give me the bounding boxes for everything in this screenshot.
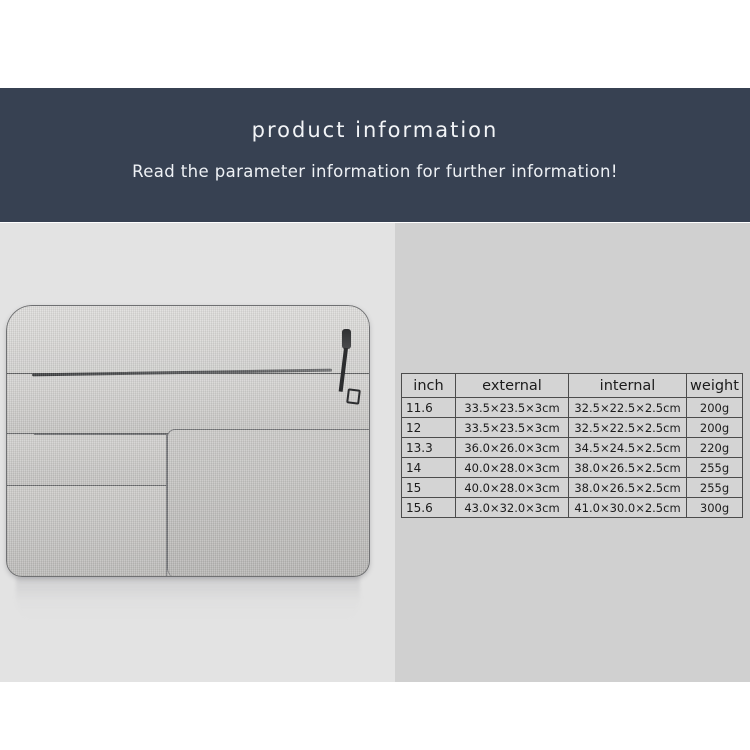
sleeve-top-flap — [6, 305, 370, 374]
column-header-weight: weight — [687, 374, 743, 398]
page-title: product information — [0, 118, 750, 142]
column-header-internal: internal — [569, 374, 687, 398]
product-reflection — [16, 575, 360, 619]
cell-inch: 13.3 — [402, 438, 456, 458]
product-photo — [0, 223, 395, 682]
specification-table: inch external internal weight 11.6 33.5×… — [401, 373, 743, 518]
table-row: 11.6 33.5×23.5×3cm 32.5×22.5×2.5cm 200g — [402, 398, 743, 418]
cell-internal: 34.5×24.5×2.5cm — [569, 438, 687, 458]
page-root: product information Read the parameter i… — [0, 0, 750, 750]
zipper-pull-icon — [340, 329, 354, 407]
laptop-sleeve-image — [6, 305, 370, 577]
specification-table-wrapper: inch external internal weight 11.6 33.5×… — [401, 373, 742, 518]
cell-internal: 32.5×22.5×2.5cm — [569, 398, 687, 418]
column-header-inch: inch — [402, 374, 456, 398]
table-row: 15.6 43.0×32.0×3cm 41.0×30.0×2.5cm 300g — [402, 498, 743, 518]
product-information-banner: product information Read the parameter i… — [0, 88, 750, 222]
table-row: 12 33.5×23.5×3cm 32.5×22.5×2.5cm 200g — [402, 418, 743, 438]
table-row: 13.3 36.0×26.0×3cm 34.5×24.5×2.5cm 220g — [402, 438, 743, 458]
cell-internal: 41.0×30.0×2.5cm — [569, 498, 687, 518]
cell-internal: 38.0×26.5×2.5cm — [569, 478, 687, 498]
cell-external: 40.0×28.0×3cm — [456, 478, 569, 498]
cell-external: 43.0×32.0×3cm — [456, 498, 569, 518]
sleeve-lower-left-pocket-2 — [6, 486, 167, 576]
sleeve-large-front-pocket — [167, 429, 370, 577]
cell-inch: 15.6 — [402, 498, 456, 518]
cell-external: 33.5×23.5×3cm — [456, 398, 569, 418]
zipper-slider — [342, 329, 351, 349]
cell-weight: 300g — [687, 498, 743, 518]
cell-internal: 38.0×26.5×2.5cm — [569, 458, 687, 478]
cell-inch: 12 — [402, 418, 456, 438]
cell-weight: 255g — [687, 458, 743, 478]
cell-weight: 200g — [687, 398, 743, 418]
page-subtitle: Read the parameter information for furth… — [0, 162, 750, 181]
cell-external: 40.0×28.0×3cm — [456, 458, 569, 478]
zipper-tab-end — [346, 388, 361, 404]
cell-weight: 220g — [687, 438, 743, 458]
cell-inch: 11.6 — [402, 398, 456, 418]
cell-weight: 255g — [687, 478, 743, 498]
table-row: 14 40.0×28.0×3cm 38.0×26.5×2.5cm 255g — [402, 458, 743, 478]
cell-external: 33.5×23.5×3cm — [456, 418, 569, 438]
cell-weight: 200g — [687, 418, 743, 438]
cell-external: 36.0×26.0×3cm — [456, 438, 569, 458]
sleeve-lower-left-pocket — [6, 435, 167, 486]
cell-inch: 14 — [402, 458, 456, 478]
table-row: 15 40.0×28.0×3cm 38.0×26.5×2.5cm 255g — [402, 478, 743, 498]
sleeve-front-pocket — [6, 375, 370, 434]
cell-inch: 15 — [402, 478, 456, 498]
zipper-tab — [339, 348, 348, 392]
table-header-row: inch external internal weight — [402, 374, 743, 398]
column-header-external: external — [456, 374, 569, 398]
cell-internal: 32.5×22.5×2.5cm — [569, 418, 687, 438]
